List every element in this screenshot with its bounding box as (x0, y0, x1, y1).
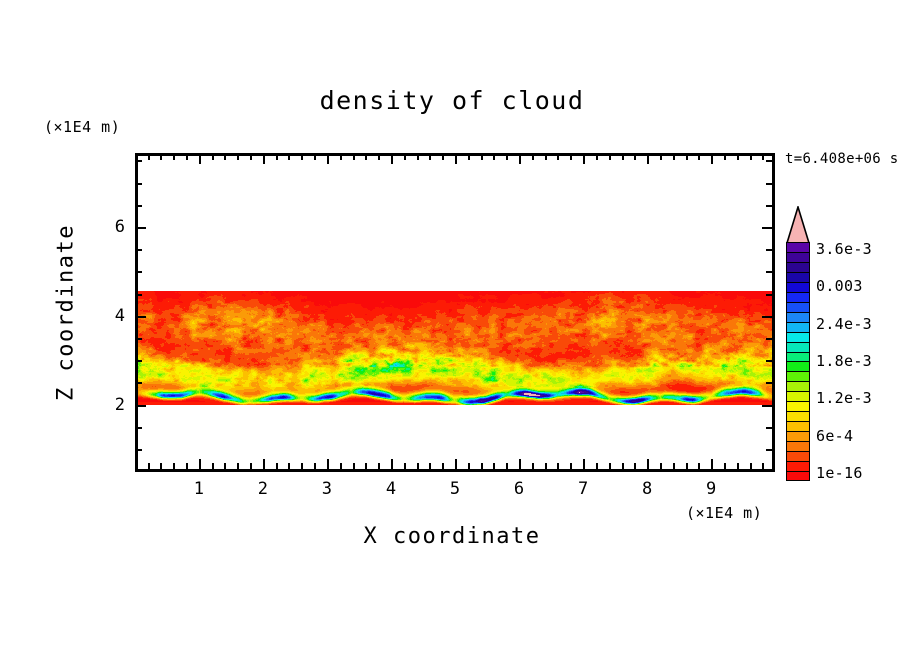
y-minor-tick (136, 249, 142, 251)
x-minor-tick (186, 463, 188, 469)
y-minor-tick-right (766, 449, 772, 451)
x-minor-tick (212, 463, 214, 469)
x-minor-tick (698, 463, 700, 469)
x-minor-tick-top (545, 154, 547, 160)
colorbar-band (786, 351, 810, 362)
x-minor-tick (493, 463, 495, 469)
x-major-tick-top (455, 154, 457, 164)
x-minor-tick (532, 463, 534, 469)
y-minor-tick-right (766, 382, 772, 384)
y-major-tick-right (762, 405, 772, 407)
x-axis-unit-label: (×1E4 m) (686, 504, 762, 522)
x-minor-tick-top (212, 154, 214, 160)
x-minor-tick-top (250, 154, 252, 160)
x-minor-tick-top (557, 154, 559, 160)
x-minor-tick (340, 463, 342, 469)
x-minor-tick-top (737, 154, 739, 160)
x-major-tick (199, 459, 201, 469)
x-minor-tick (622, 463, 624, 469)
x-minor-tick-top (353, 154, 355, 160)
x-minor-tick-top (301, 154, 303, 160)
x-minor-tick-top (417, 154, 419, 160)
colorbar-band (786, 242, 810, 253)
x-minor-tick (288, 463, 290, 469)
x-minor-tick-top (686, 154, 688, 160)
y-minor-tick (136, 205, 142, 207)
x-major-tick (519, 459, 521, 469)
x-minor-tick (224, 463, 226, 469)
time-annotation: t=6.408e+06 s (785, 151, 898, 167)
x-minor-tick-top (288, 154, 290, 160)
x-minor-tick-top (186, 154, 188, 160)
colorbar-band (786, 311, 810, 322)
colorbar-band (786, 331, 810, 342)
x-minor-tick (750, 463, 752, 469)
colorbar-tick-label: 3.6e-3 (816, 240, 872, 258)
x-major-tick-top (327, 154, 329, 164)
colorbar-band (786, 430, 810, 441)
y-minor-tick (136, 360, 142, 362)
x-minor-tick-top (340, 154, 342, 160)
x-minor-tick (301, 463, 303, 469)
colorbar-band (786, 341, 810, 352)
plot-canvas: density of cloud (×1E4 m) t=6.408e+06 s … (0, 0, 904, 654)
y-tick-label: 2 (95, 395, 125, 415)
x-major-tick (583, 459, 585, 469)
x-minor-tick (634, 463, 636, 469)
x-minor-tick (596, 463, 598, 469)
x-minor-tick-top (493, 154, 495, 160)
x-minor-tick (365, 463, 367, 469)
x-tick-label: 1 (184, 479, 214, 499)
x-minor-tick (673, 463, 675, 469)
x-major-tick (391, 459, 393, 469)
x-minor-tick-top (532, 154, 534, 160)
colorbar-tick-label: 6e-4 (816, 427, 853, 445)
y-minor-tick-right (766, 360, 772, 362)
y-tick-label: 4 (95, 306, 125, 326)
x-tick-label: 4 (376, 479, 406, 499)
x-major-tick-top (263, 154, 265, 164)
y-minor-tick-right (766, 338, 772, 340)
x-major-tick (263, 459, 265, 469)
x-minor-tick (686, 463, 688, 469)
x-minor-tick-top (404, 154, 406, 160)
x-minor-tick (314, 463, 316, 469)
colorbar-band (786, 272, 810, 283)
x-major-tick-top (711, 154, 713, 164)
x-minor-tick (442, 463, 444, 469)
x-minor-tick-top (224, 154, 226, 160)
x-minor-tick-top (148, 154, 150, 160)
colorbar-band (786, 450, 810, 461)
x-minor-tick (724, 463, 726, 469)
x-minor-tick (237, 463, 239, 469)
x-minor-tick-top (634, 154, 636, 160)
x-major-tick-top (519, 154, 521, 164)
x-tick-label: 5 (440, 479, 470, 499)
y-major-tick-right (762, 227, 772, 229)
x-major-tick-top (391, 154, 393, 164)
x-minor-tick (762, 463, 764, 469)
x-minor-tick (557, 463, 559, 469)
y-major-tick-right (762, 316, 772, 318)
colorbar-tick-label: 1.8e-3 (816, 352, 872, 370)
x-minor-tick-top (468, 154, 470, 160)
y-axis-title: Z coordinate (54, 203, 79, 423)
x-minor-tick-top (506, 154, 508, 160)
colorbar-tick-label: 1.2e-3 (816, 389, 872, 407)
x-minor-tick-top (698, 154, 700, 160)
x-minor-tick (545, 463, 547, 469)
x-tick-label: 9 (696, 479, 726, 499)
y-minor-tick-right (766, 160, 772, 162)
y-minor-tick-right (766, 183, 772, 185)
colorbar-band (786, 411, 810, 422)
x-tick-label: 7 (568, 479, 598, 499)
x-minor-tick (404, 463, 406, 469)
y-minor-tick (136, 271, 142, 273)
x-minor-tick-top (429, 154, 431, 160)
x-minor-tick (481, 463, 483, 469)
y-minor-tick (136, 338, 142, 340)
x-minor-tick (570, 463, 572, 469)
x-minor-tick-top (570, 154, 572, 160)
x-minor-tick-top (276, 154, 278, 160)
colorbar-band (786, 371, 810, 382)
contour-field (138, 156, 772, 469)
y-major-tick (136, 227, 146, 229)
colorbar-band (786, 262, 810, 273)
x-major-tick (455, 459, 457, 469)
x-minor-tick (468, 463, 470, 469)
colorbar-tick-label: 1e-16 (816, 464, 863, 482)
x-minor-tick-top (173, 154, 175, 160)
x-minor-tick-top (314, 154, 316, 160)
x-minor-tick-top (365, 154, 367, 160)
x-minor-tick-top (750, 154, 752, 160)
y-major-tick (136, 405, 146, 407)
colorbar-band (786, 470, 810, 481)
y-minor-tick (136, 294, 142, 296)
x-minor-tick-top (237, 154, 239, 160)
x-major-tick (711, 459, 713, 469)
colorbar (786, 242, 810, 480)
x-tick-label: 3 (312, 479, 342, 499)
colorbar-band (786, 401, 810, 412)
x-major-tick (327, 459, 329, 469)
y-minor-tick-right (766, 294, 772, 296)
y-minor-tick-right (766, 271, 772, 273)
colorbar-band (786, 440, 810, 451)
colorbar-band (786, 302, 810, 313)
x-major-tick-top (647, 154, 649, 164)
y-major-tick (136, 316, 146, 318)
x-minor-tick (429, 463, 431, 469)
x-minor-tick-top (378, 154, 380, 160)
x-minor-tick (417, 463, 419, 469)
chart-title: density of cloud (0, 86, 904, 115)
x-minor-tick-top (160, 154, 162, 160)
x-minor-tick (160, 463, 162, 469)
x-tick-label: 6 (504, 479, 534, 499)
x-minor-tick (506, 463, 508, 469)
y-minor-tick (136, 160, 142, 162)
y-minor-tick-right (766, 427, 772, 429)
x-minor-tick (609, 463, 611, 469)
x-major-tick (647, 459, 649, 469)
x-minor-tick (737, 463, 739, 469)
x-minor-tick-top (442, 154, 444, 160)
colorbar-band (786, 321, 810, 332)
x-minor-tick-top (724, 154, 726, 160)
y-tick-label: 6 (95, 217, 125, 237)
y-minor-tick-right (766, 205, 772, 207)
colorbar-tick-label: 2.4e-3 (816, 315, 872, 333)
x-minor-tick (173, 463, 175, 469)
colorbar-band (786, 460, 810, 471)
y-minor-tick (136, 427, 142, 429)
x-minor-tick-top (481, 154, 483, 160)
x-minor-tick (276, 463, 278, 469)
x-minor-tick-top (609, 154, 611, 160)
x-major-tick-top (583, 154, 585, 164)
y-minor-tick-right (766, 249, 772, 251)
colorbar-band (786, 381, 810, 392)
colorbar-band (786, 292, 810, 303)
colorbar-band (786, 282, 810, 293)
x-minor-tick (250, 463, 252, 469)
contour-canvas (138, 156, 772, 469)
y-minor-tick (136, 449, 142, 451)
x-minor-tick (148, 463, 150, 469)
colorbar-overflow-cap (786, 206, 810, 244)
x-minor-tick (660, 463, 662, 469)
x-minor-tick-top (673, 154, 675, 160)
y-minor-tick (136, 382, 142, 384)
x-axis-title: X coordinate (0, 524, 904, 549)
colorbar-band (786, 361, 810, 372)
colorbar-band (786, 391, 810, 402)
y-minor-tick (136, 183, 142, 185)
colorbar-tick-label: 0.003 (816, 277, 863, 295)
x-tick-label: 8 (632, 479, 662, 499)
colorbar-band (786, 252, 810, 263)
x-minor-tick (378, 463, 380, 469)
x-minor-tick-top (622, 154, 624, 160)
colorbar-band (786, 421, 810, 432)
x-minor-tick-top (596, 154, 598, 160)
x-major-tick-top (199, 154, 201, 164)
x-minor-tick (353, 463, 355, 469)
x-minor-tick-top (660, 154, 662, 160)
x-tick-label: 2 (248, 479, 278, 499)
x-minor-tick-top (762, 154, 764, 160)
y-axis-unit-label: (×1E4 m) (44, 118, 120, 136)
